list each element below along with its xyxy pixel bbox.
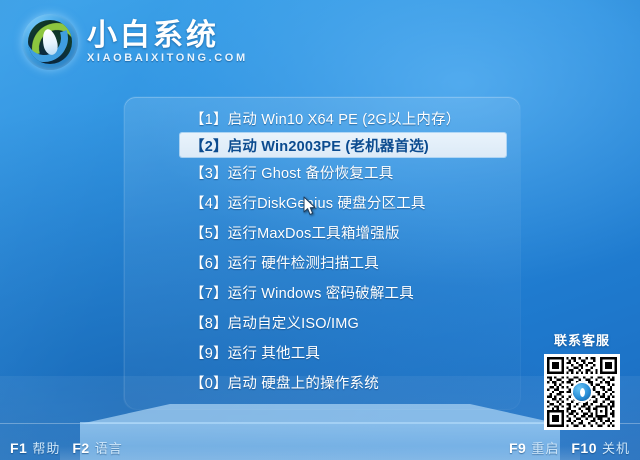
boot-menu-panel: 【1】启动 Win10 X64 PE (2G以上内存）【2】启动 Win2003… <box>124 97 520 409</box>
boot-menu-item-6[interactable]: 【6】运行 硬件检测扫描工具 <box>124 247 520 277</box>
qr-code-icon[interactable] <box>544 354 620 430</box>
status-bar-left: F1帮助F2语言 <box>10 438 123 457</box>
status-key-f9: F9 <box>509 440 526 456</box>
qr-center-logo-icon <box>573 383 591 401</box>
boot-menu-item-0[interactable]: 【0】启动 硬盘上的操作系统 <box>124 367 520 397</box>
refresh-circle-logo-icon <box>22 14 78 70</box>
contact-support-block: 联系客服 <box>536 330 628 430</box>
boot-menu-item-3[interactable]: 【3】运行 Ghost 备份恢复工具 <box>124 157 520 187</box>
status-item-f2[interactable]: F2语言 <box>72 438 122 457</box>
status-value-f10: 关机 <box>602 438 630 457</box>
status-bar: F1帮助F2语言 F9重启F10关机 <box>0 434 640 460</box>
status-value-f2: 语言 <box>95 438 123 457</box>
status-value-f9: 重启 <box>531 438 559 457</box>
status-item-f9[interactable]: F9重启 <box>509 438 559 457</box>
status-bar-right: F9重启F10关机 <box>509 438 630 457</box>
brand-name-cn: 小白系统 <box>87 20 248 52</box>
status-key-f1: F1 <box>10 440 27 456</box>
boot-menu-list: 【1】启动 Win10 X64 PE (2G以上内存）【2】启动 Win2003… <box>124 103 520 397</box>
contact-support-label: 联系客服 <box>554 330 610 349</box>
boot-menu-screen: 小白系统 XIAOBAIXITONG.COM 【1】启动 Win10 X64 P… <box>0 0 640 460</box>
boot-menu-item-8[interactable]: 【8】启动自定义ISO/IMG <box>124 307 520 337</box>
boot-menu-item-7[interactable]: 【7】运行 Windows 密码破解工具 <box>124 277 520 307</box>
boot-menu-item-2[interactable]: 【2】启动 Win2003PE (老机器首选) <box>180 133 506 157</box>
status-value-f1: 帮助 <box>32 438 60 457</box>
boot-menu-item-4[interactable]: 【4】运行DiskGenius 硬盘分区工具 <box>124 187 520 217</box>
boot-menu-item-9[interactable]: 【9】运行 其他工具 <box>124 337 520 367</box>
boot-menu-item-5[interactable]: 【5】运行MaxDos工具箱增强版 <box>124 217 520 247</box>
status-item-f1[interactable]: F1帮助 <box>10 438 60 457</box>
boot-menu-item-1[interactable]: 【1】启动 Win10 X64 PE (2G以上内存） <box>124 103 520 133</box>
brand-name-en: XIAOBAIXITONG.COM <box>87 53 248 64</box>
status-item-f10[interactable]: F10关机 <box>571 438 630 457</box>
brand-logo: 小白系统 XIAOBAIXITONG.COM <box>22 14 248 70</box>
status-key-f2: F2 <box>72 440 89 456</box>
status-key-f10: F10 <box>571 440 597 456</box>
